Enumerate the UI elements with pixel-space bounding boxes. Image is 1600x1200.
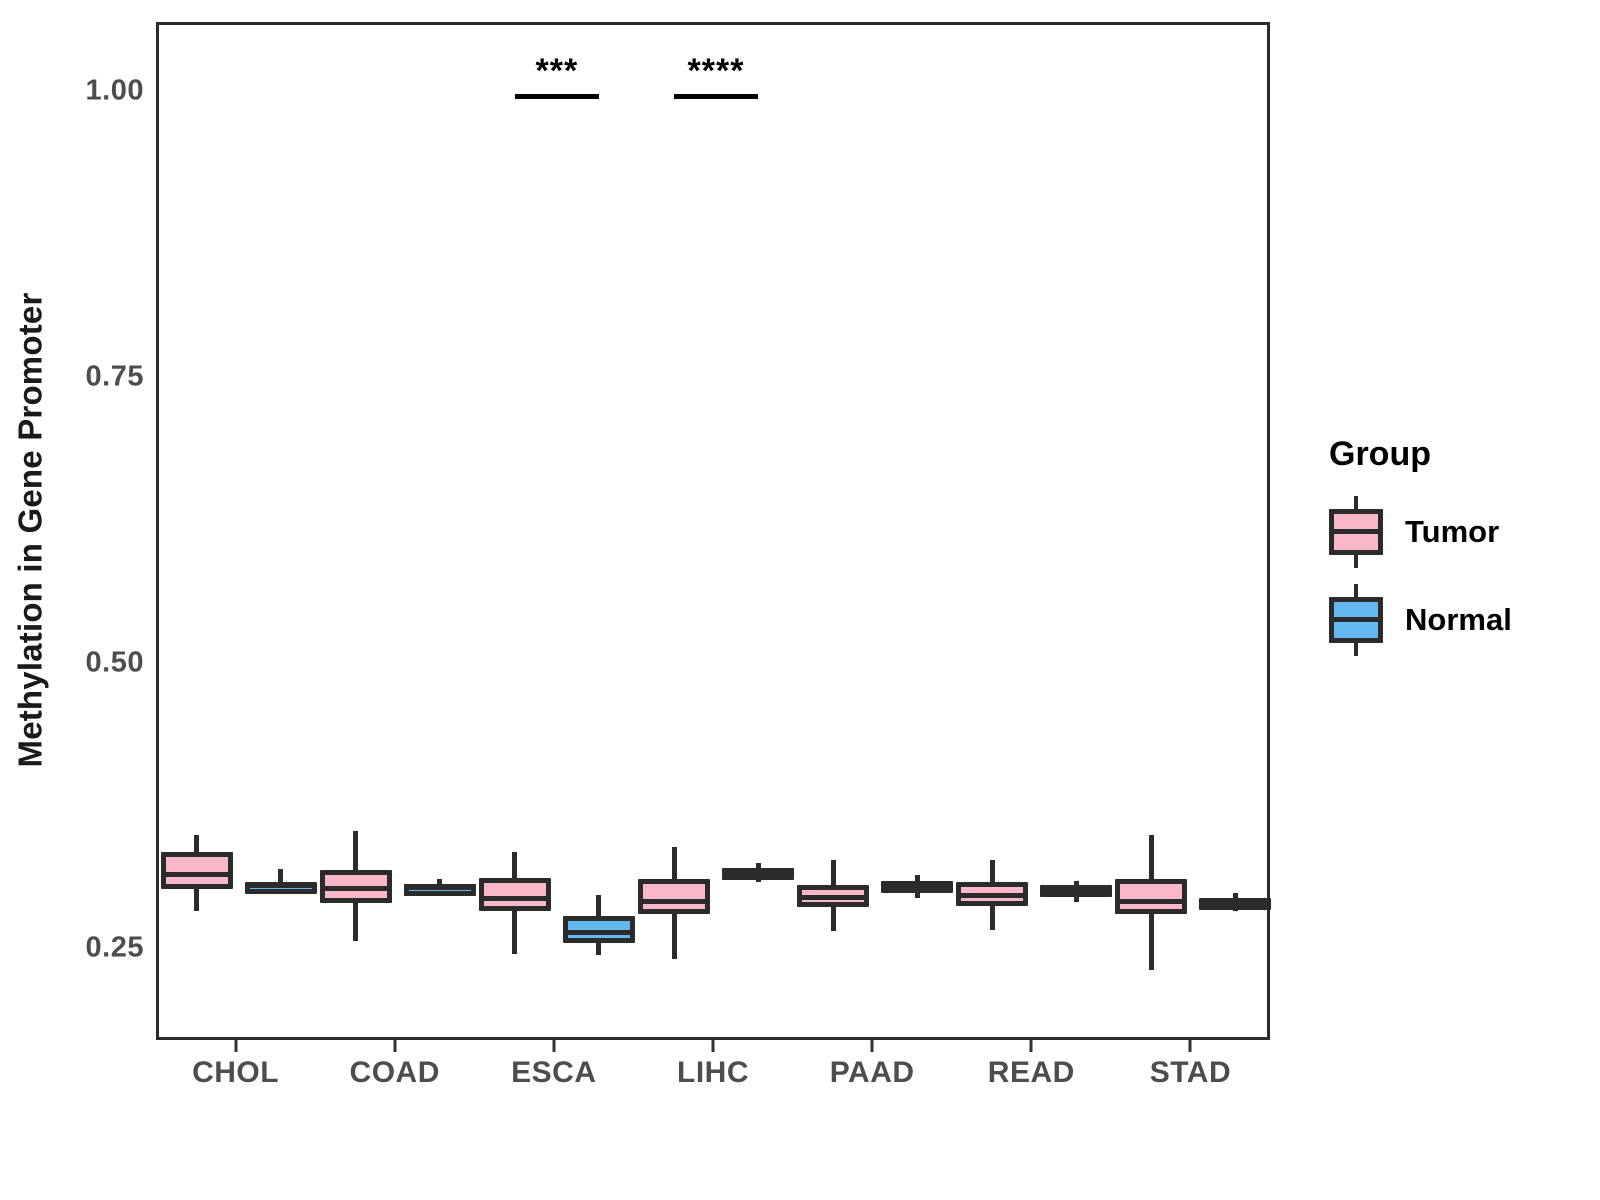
whisker-upper [596, 895, 601, 916]
legend-label: Normal [1405, 602, 1512, 638]
median-line [479, 896, 551, 901]
boxplot-read-tumor[interactable] [956, 25, 1028, 1037]
box-iqr [638, 879, 710, 913]
x-tick-label-read: READ [988, 1056, 1075, 1090]
whisker-upper [353, 831, 358, 870]
whisker-upper [1149, 835, 1154, 880]
whisker-upper [915, 875, 920, 881]
x-tick-mark [1030, 1040, 1033, 1052]
boxplot-read-normal[interactable] [1040, 25, 1112, 1037]
whisker-lower [194, 889, 199, 912]
median-line [638, 899, 710, 904]
x-tick-label-lihc: LIHC [677, 1056, 749, 1090]
median-line [722, 870, 794, 875]
whisker-upper [512, 852, 517, 878]
boxplot-stad-normal[interactable] [1199, 25, 1271, 1037]
x-tick-label-coad: COAD [350, 1056, 440, 1090]
median-line [881, 884, 953, 889]
boxplot-chol-normal[interactable] [245, 25, 317, 1037]
median-line [245, 883, 317, 888]
median-line [1199, 900, 1271, 905]
median-line [1040, 888, 1112, 893]
y-tick-label: 0.25 [54, 932, 144, 965]
legend-items: TumorNormal [1325, 496, 1585, 656]
box-iqr [1115, 879, 1187, 913]
boxplot-chol-tumor[interactable] [161, 25, 233, 1037]
boxplot-coad-normal[interactable] [404, 25, 476, 1037]
median-line [161, 872, 233, 877]
y-axis-ticks: 1.000.750.500.25 [48, 0, 144, 1060]
whisker-lower [512, 911, 517, 953]
x-axis: CHOLCOADESCALIHCPAADREADSTAD [156, 1040, 1270, 1100]
x-tick-mark [871, 1040, 874, 1052]
x-tick-mark [234, 1040, 237, 1052]
boxplot-esca-normal[interactable] [563, 25, 635, 1037]
significance-bar-lihc [674, 94, 758, 99]
median-line [956, 893, 1028, 898]
median-line [563, 930, 635, 935]
whisker-lower [672, 914, 677, 960]
whisker-upper [990, 860, 995, 882]
x-tick-label-paad: PAAD [830, 1056, 915, 1090]
significance-stars-esca: *** [515, 54, 599, 88]
whisker-lower [353, 903, 358, 941]
legend-title: Group [1329, 435, 1585, 474]
significance-bar-esca [515, 94, 599, 99]
median-line [797, 895, 869, 900]
whisker-upper [672, 847, 677, 879]
x-tick-label-esca: ESCA [511, 1056, 596, 1090]
x-tick-mark [1189, 1040, 1192, 1052]
box-iqr [479, 878, 551, 911]
y-tick-label: 0.50 [54, 646, 144, 679]
box-iqr [161, 852, 233, 889]
x-tick-label-chol: CHOL [192, 1056, 279, 1090]
boxplot-esca-tumor[interactable] [479, 25, 551, 1037]
y-axis-title-text: Methylation in Gene Promoter [11, 293, 49, 768]
legend-key-icon [1325, 584, 1387, 656]
boxplot-paad-tumor[interactable] [797, 25, 869, 1037]
median-line [320, 886, 392, 891]
significance-stars-lihc: **** [674, 54, 758, 88]
median-line [404, 885, 476, 890]
whisker-lower [990, 906, 995, 930]
legend-item-tumor[interactable]: Tumor [1325, 496, 1585, 568]
boxplot-lihc-tumor[interactable] [638, 25, 710, 1037]
whisker-lower [1149, 914, 1154, 970]
whisker-lower [831, 907, 836, 931]
boxplot-coad-tumor[interactable] [320, 25, 392, 1037]
whisker-lower [596, 943, 601, 954]
plot-area: ******* [159, 25, 1267, 1037]
whisker-upper [831, 860, 836, 885]
x-tick-mark [552, 1040, 555, 1052]
legend-key-icon [1325, 496, 1387, 568]
x-tick-mark [712, 1040, 715, 1052]
plot-panel: ******* [156, 22, 1270, 1040]
legend-label: Tumor [1405, 514, 1499, 550]
legend: Group TumorNormal [1325, 435, 1585, 672]
median-line [1115, 899, 1187, 904]
legend-item-normal[interactable]: Normal [1325, 584, 1585, 656]
x-tick-label-stad: STAD [1150, 1056, 1231, 1090]
x-tick-mark [393, 1040, 396, 1052]
boxplot-lihc-normal[interactable] [722, 25, 794, 1037]
boxplot-paad-normal[interactable] [881, 25, 953, 1037]
boxplot-figure: Methylation in Gene Promoter 1.000.750.5… [0, 0, 1600, 1200]
y-tick-label: 1.00 [54, 74, 144, 107]
whisker-lower [915, 892, 920, 898]
whisker-upper [194, 835, 199, 852]
y-tick-label: 0.75 [54, 360, 144, 393]
boxplot-stad-tumor[interactable] [1115, 25, 1187, 1037]
whisker-upper [278, 869, 283, 882]
